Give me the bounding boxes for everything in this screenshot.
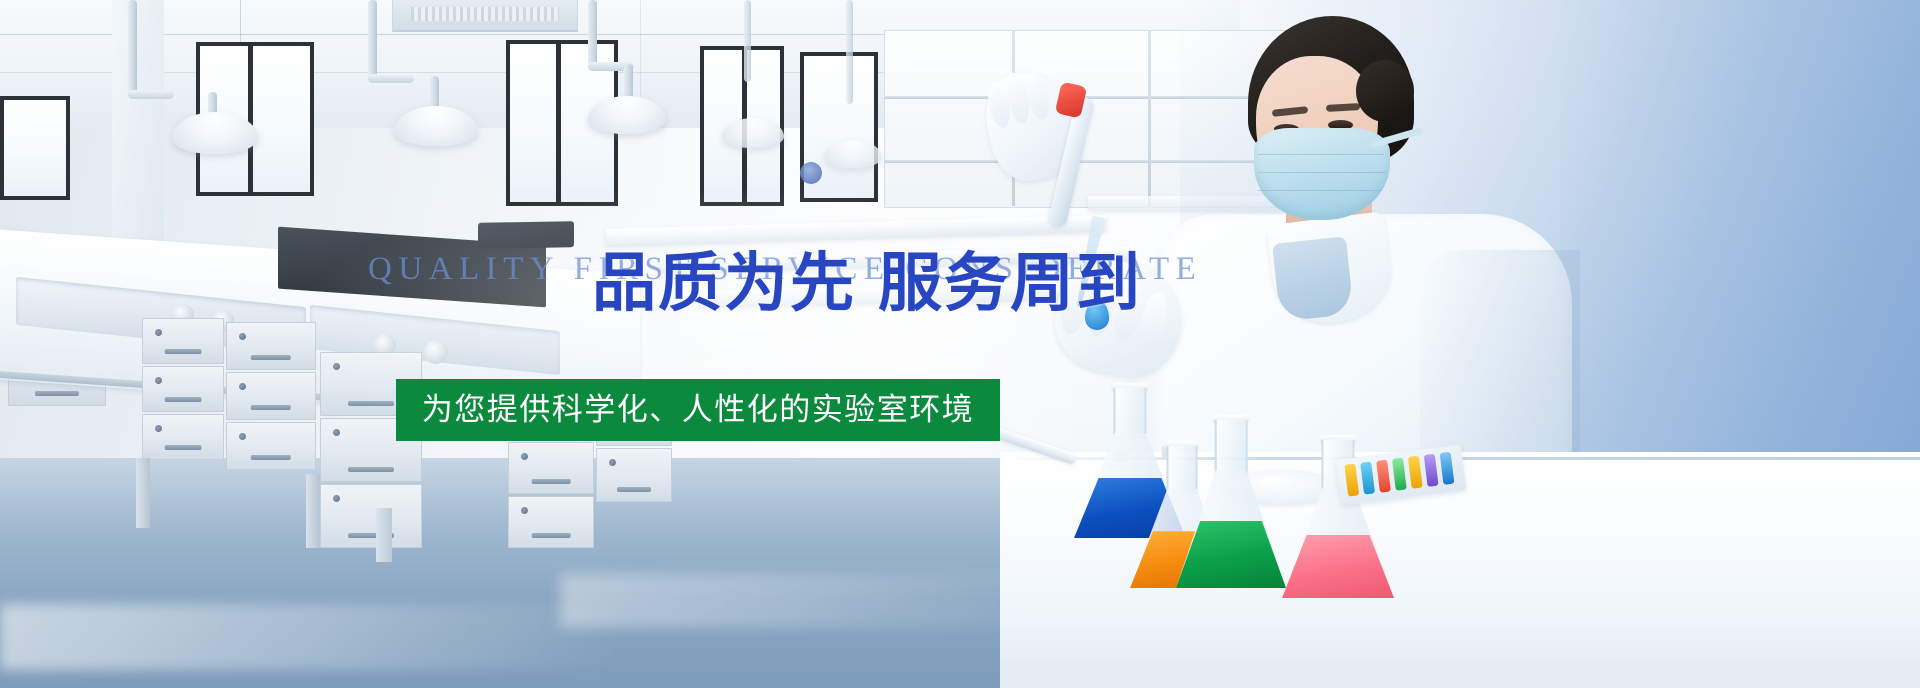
headline: 品质为先服务周到: [592, 248, 1142, 320]
subtitle-green-bar: 为您提供科学化、人性化的实验室环境: [396, 379, 1000, 441]
banner-copy: QUALITY FIRST SERVICE CONSIDERATE 品质为先服务…: [0, 0, 1920, 688]
headline-part-2: 服务周到: [878, 247, 1142, 321]
headline-part-1: 品质为先: [592, 247, 856, 321]
hero-banner: QUALITY FIRST SERVICE CONSIDERATE 品质为先服务…: [0, 0, 1920, 688]
subtitle-text: 为您提供科学化、人性化的实验室环境: [422, 393, 975, 427]
